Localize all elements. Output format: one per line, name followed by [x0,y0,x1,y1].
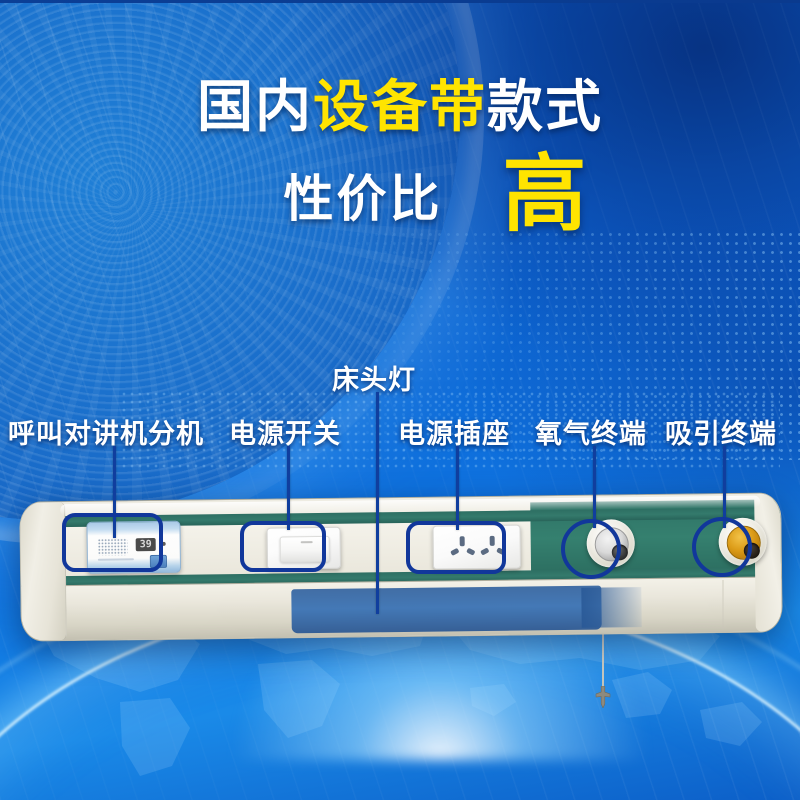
callout-label-power-socket: 电源插座 [398,412,510,451]
leader-line-power-socket [456,446,459,530]
callout-group: 呼叫对讲机分机 电源开关 床头灯 电源插座 氧气终端 吸引终端 [0,0,800,800]
highlight-circle-oxygen [561,519,621,579]
highlight-circle-suction [692,517,752,577]
callout-label-call-intercom: 呼叫对讲机分机 [8,412,204,451]
highlight-box-power-switch [240,521,326,572]
leader-line-oxygen-outlet [593,446,596,528]
leader-line-suction-outlet [723,446,726,528]
leader-line-power-switch [287,446,290,530]
highlight-box-call-intercom [62,513,163,572]
highlight-box-power-socket [406,521,506,574]
promo-banner: 国内设备带款式 性价比 高 呼叫对讲机分机 电源开关 床头灯 电源插座 氧气终端… [0,0,800,800]
callout-label-bed-lamp: 床头灯 [332,358,416,397]
callout-label-power-switch: 电源开关 [229,412,341,451]
callout-label-oxygen-outlet: 氧气终端 [535,412,647,451]
callout-label-suction-outlet: 吸引终端 [665,412,777,451]
leader-line-bed-lamp [376,392,379,614]
